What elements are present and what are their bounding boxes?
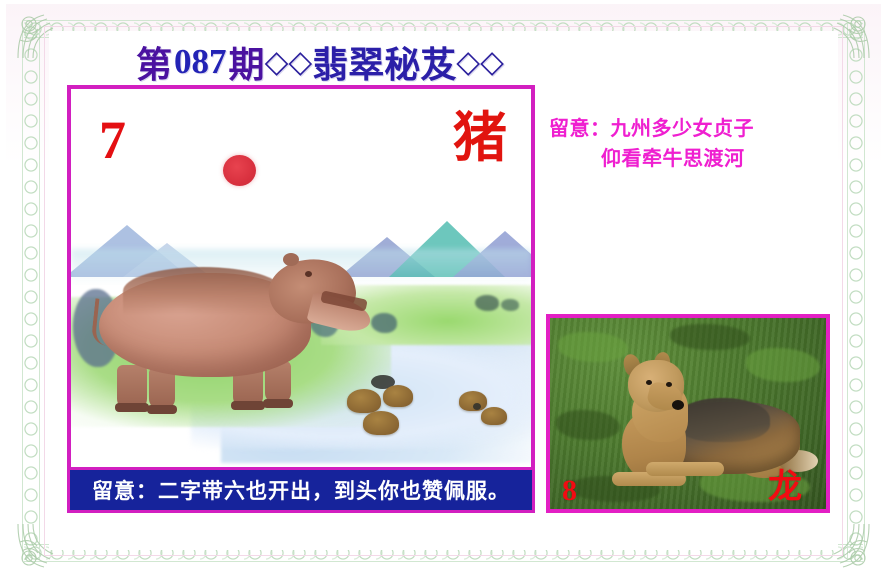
title-issue-prefix: 第 bbox=[136, 36, 172, 88]
content-area: 第087期◇◇翡翠秘芨◇◇ bbox=[49, 31, 838, 550]
caption-text: 留意：二字带六也开出，到头你也赞佩服。 bbox=[92, 475, 510, 505]
side-note-line-1: 留意：九州多少女贞子 bbox=[549, 113, 829, 143]
dog-saddle-marking bbox=[674, 398, 770, 442]
dog-eye bbox=[666, 382, 672, 387]
title-issue-number: 087 bbox=[172, 42, 229, 82]
zodiac-label: 猪 bbox=[453, 111, 507, 165]
diamond-left-icon: ◇◇ bbox=[265, 44, 313, 80]
side-note-line-2: 仰看牵牛思渡河 bbox=[549, 143, 829, 173]
side-note: 留意：九州多少女贞子 仰看牵牛思渡河 bbox=[549, 113, 829, 173]
caption-bar: 留意：二字带六也开出，到头你也赞佩服。 bbox=[67, 467, 535, 513]
page-title: 第087期◇◇翡翠秘芨◇◇ bbox=[85, 36, 555, 88]
water-animal bbox=[383, 385, 413, 407]
diamond-right-icon: ◇◇ bbox=[456, 44, 504, 80]
photo-lucky-number: 8 bbox=[562, 476, 577, 506]
main-picture-card[interactable]: 7 猪 bbox=[67, 85, 535, 513]
water-animal bbox=[363, 411, 399, 435]
lucky-number: 7 bbox=[99, 113, 126, 167]
title-issue-suffix: 期 bbox=[229, 36, 265, 88]
hippo-hoof bbox=[147, 405, 177, 414]
border-lace-left bbox=[20, 22, 42, 560]
hippopotamus bbox=[93, 247, 361, 415]
water-animal bbox=[347, 389, 381, 413]
hippo-ear bbox=[283, 253, 299, 266]
dog-paw bbox=[646, 462, 724, 476]
grass-tuft bbox=[670, 324, 750, 350]
red-sun-icon bbox=[223, 155, 256, 186]
dog-nose bbox=[672, 400, 684, 410]
photo-zodiac-label: 龙 bbox=[768, 470, 802, 504]
water-animal bbox=[473, 403, 481, 410]
hippo-hoof bbox=[263, 399, 293, 408]
poster-root: 第087期◇◇翡翠秘芨◇◇ bbox=[0, 0, 887, 582]
hippo-illustration: 7 猪 bbox=[71, 89, 531, 509]
water-animal bbox=[481, 407, 507, 425]
dog-photo: 8 龙 bbox=[550, 318, 826, 509]
bush bbox=[475, 295, 499, 311]
border-lace-right bbox=[845, 22, 867, 560]
hippo-hoof bbox=[115, 403, 149, 412]
bush bbox=[371, 313, 397, 333]
hippo-eye bbox=[305, 271, 312, 277]
hippo-hoof bbox=[231, 401, 265, 410]
title-main-text: 翡翠秘芨 bbox=[312, 36, 456, 88]
dog-photo-card[interactable]: 8 龙 bbox=[546, 314, 830, 513]
bush bbox=[501, 299, 519, 311]
hippo-back bbox=[123, 267, 283, 315]
dog-eye bbox=[646, 380, 652, 385]
